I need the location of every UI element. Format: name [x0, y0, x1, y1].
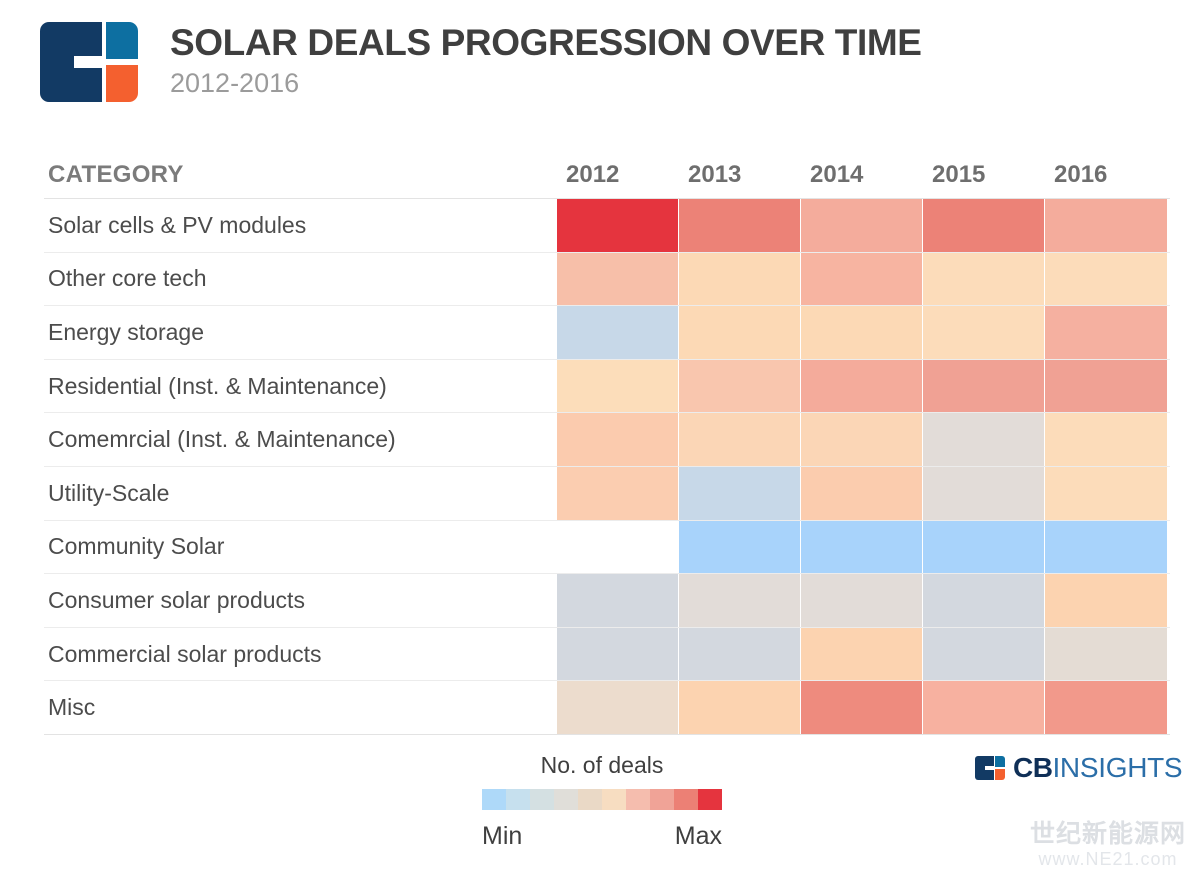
legend-swatch	[506, 789, 530, 810]
footer-brand-bold: CB	[1013, 752, 1052, 784]
heatmap-cell	[923, 199, 1045, 252]
heatmap-cell	[801, 199, 923, 252]
column-header-category: CATEGORY	[44, 161, 557, 189]
row-label: Comemrcial (Inst. & Maintenance)	[44, 413, 557, 466]
heatmap-cell	[557, 306, 679, 359]
heatmap-cell	[923, 574, 1045, 627]
legend-swatch	[578, 789, 602, 810]
legend-max-label: Max	[675, 822, 722, 851]
heatmap-cell	[679, 628, 801, 681]
row-label: Consumer solar products	[44, 574, 557, 627]
heatmap-cell	[557, 467, 679, 520]
heatmap-cell	[801, 306, 923, 359]
legend: No. of deals Min Max	[466, 752, 738, 851]
table-body: Solar cells & PV modulesOther core techE…	[44, 199, 1170, 735]
heatmap-cell	[801, 681, 923, 734]
table-row: Comemrcial (Inst. & Maintenance)	[44, 413, 1170, 467]
footer-logo-bottom-right-block	[995, 769, 1005, 780]
table-row: Community Solar	[44, 521, 1170, 575]
heatmap-cell	[679, 306, 801, 359]
row-label: Other core tech	[44, 253, 557, 306]
table-row: Residential (Inst. & Maintenance)	[44, 360, 1170, 414]
heatmap-cell	[679, 574, 801, 627]
row-label: Utility-Scale	[44, 467, 557, 520]
heatmap-cell	[923, 306, 1045, 359]
row-label: Energy storage	[44, 306, 557, 359]
heatmap-cell	[557, 521, 679, 574]
page-title: SOLAR DEALS PROGRESSION OVER TIME	[170, 24, 922, 63]
heatmap-cell	[1045, 199, 1167, 252]
heatmap-cell	[1045, 681, 1167, 734]
legend-swatch	[602, 789, 626, 810]
legend-swatch	[554, 789, 578, 810]
legend-color-bar	[482, 789, 722, 810]
row-label: Residential (Inst. & Maintenance)	[44, 360, 557, 413]
heatmap-cell	[679, 360, 801, 413]
row-label: Commercial solar products	[44, 628, 557, 681]
heatmap-cell	[1045, 574, 1167, 627]
watermark: 世纪新能源网 www.NE21.com	[1030, 822, 1186, 871]
footer-brand: CBINSIGHTS	[975, 752, 1182, 784]
legend-swatch	[482, 789, 506, 810]
heatmap-cell	[923, 521, 1045, 574]
legend-swatch	[626, 789, 650, 810]
legend-scale: Min Max	[482, 822, 722, 851]
footer-logo-top-right-block	[995, 756, 1005, 767]
logo-notch	[74, 56, 106, 68]
row-label: Solar cells & PV modules	[44, 199, 557, 252]
heatmap-cell	[557, 199, 679, 252]
table-row: Other core tech	[44, 253, 1170, 307]
heatmap-cell	[923, 413, 1045, 466]
column-header-2015: 2015	[923, 161, 1045, 189]
heatmap-cell	[1045, 467, 1167, 520]
legend-swatch	[698, 789, 722, 810]
watermark-chinese-text: 世纪新能源网	[1030, 822, 1186, 847]
heatmap-cell	[679, 521, 801, 574]
table-row: Consumer solar products	[44, 574, 1170, 628]
legend-swatch	[530, 789, 554, 810]
heatmap-cell	[679, 253, 801, 306]
heatmap-cell	[801, 574, 923, 627]
column-header-2016: 2016	[1045, 161, 1167, 189]
heatmap-cell	[1045, 253, 1167, 306]
heatmap-cell	[801, 253, 923, 306]
heatmap-cell	[679, 467, 801, 520]
heatmap-cell	[557, 574, 679, 627]
heatmap-cell	[1045, 306, 1167, 359]
footer-logo-notch	[985, 766, 995, 770]
table-row: Energy storage	[44, 306, 1170, 360]
logo-top-right-block	[106, 22, 138, 59]
legend-title: No. of deals	[466, 752, 738, 779]
heatmap-cell	[923, 360, 1045, 413]
table-row: Solar cells & PV modules	[44, 199, 1170, 253]
table-header-row: CATEGORY 2012 2013 2014 2015 2016	[44, 152, 1170, 199]
heatmap-cell	[1045, 628, 1167, 681]
heatmap-cell	[557, 413, 679, 466]
cb-insights-logo-icon	[40, 22, 138, 102]
footer-brand-light: INSIGHTS	[1052, 752, 1182, 784]
heatmap-cell	[801, 413, 923, 466]
title-group: SOLAR DEALS PROGRESSION OVER TIME 2012-2…	[170, 24, 922, 97]
table-row: Commercial solar products	[44, 628, 1170, 682]
column-header-2014: 2014	[801, 161, 923, 189]
row-label: Community Solar	[44, 521, 557, 574]
heatmap-cell	[801, 467, 923, 520]
heatmap-cell	[923, 628, 1045, 681]
cb-insights-logo-icon	[975, 756, 1005, 780]
table-row: Misc	[44, 681, 1170, 735]
logo-bottom-right-block	[106, 65, 138, 102]
row-label: Misc	[44, 681, 557, 734]
legend-swatch	[674, 789, 698, 810]
heatmap-cell	[923, 253, 1045, 306]
heatmap-cell	[557, 628, 679, 681]
heatmap-cell	[801, 360, 923, 413]
heatmap-cell	[679, 413, 801, 466]
legend-swatch	[650, 789, 674, 810]
heatmap-cell	[557, 681, 679, 734]
heatmap-cell	[679, 681, 801, 734]
heatmap-cell	[1045, 413, 1167, 466]
page-subtitle: 2012-2016	[170, 70, 922, 97]
heatmap-cell	[557, 360, 679, 413]
heatmap-cell	[679, 199, 801, 252]
page-header: SOLAR DEALS PROGRESSION OVER TIME 2012-2…	[40, 22, 922, 102]
legend-min-label: Min	[482, 822, 522, 851]
watermark-url-text: www.NE21.com	[1030, 849, 1186, 871]
heatmap-cell	[923, 681, 1045, 734]
heatmap-table: CATEGORY 2012 2013 2014 2015 2016 Solar …	[44, 152, 1170, 735]
column-header-2012: 2012	[557, 161, 679, 189]
heatmap-cell	[1045, 360, 1167, 413]
heatmap-cell	[923, 467, 1045, 520]
table-row: Utility-Scale	[44, 467, 1170, 521]
heatmap-cell	[1045, 521, 1167, 574]
heatmap-cell	[557, 253, 679, 306]
heatmap-cell	[801, 628, 923, 681]
column-header-2013: 2013	[679, 161, 801, 189]
heatmap-cell	[801, 521, 923, 574]
